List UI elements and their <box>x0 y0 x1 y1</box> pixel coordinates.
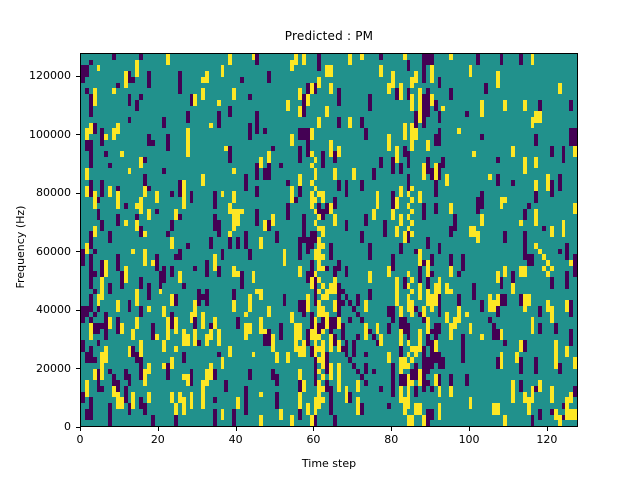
x-tick: 80 <box>361 427 421 449</box>
x-tick-mark <box>391 427 392 431</box>
y-tick-mark <box>76 76 80 77</box>
heatmap-image <box>81 54 577 426</box>
x-tick: 60 <box>283 427 343 449</box>
x-tick-label: 0 <box>50 433 110 446</box>
x-tick-label: 40 <box>206 433 266 446</box>
x-tick: 40 <box>206 427 266 449</box>
y-tick-label: 100000 <box>29 129 71 141</box>
x-tick: 0 <box>50 427 110 449</box>
y-tick-label: 60000 <box>36 246 71 258</box>
chart-title: Predicted : PM <box>80 29 578 43</box>
y-tick-mark <box>76 251 80 252</box>
y-tick: 20000 <box>0 363 80 375</box>
heatmap-axes <box>80 53 578 427</box>
x-tick-mark <box>236 427 237 431</box>
x-tick-mark <box>547 427 548 431</box>
x-axis-label: Time step <box>80 457 578 470</box>
x-tick-label: 80 <box>361 433 421 446</box>
x-tick-label: 120 <box>517 433 577 446</box>
y-tick-mark <box>76 310 80 311</box>
y-tick-label: 20000 <box>36 363 71 375</box>
x-tick-label: 20 <box>128 433 188 446</box>
y-tick: 40000 <box>0 304 80 316</box>
x-tick-mark <box>158 427 159 431</box>
x-tick: 100 <box>439 427 499 449</box>
y-tick-label: 120000 <box>29 70 71 82</box>
x-tick-label: 100 <box>439 433 499 446</box>
x-tick-mark <box>469 427 470 431</box>
y-tick: 100000 <box>0 129 80 141</box>
x-tick-mark <box>80 427 81 431</box>
y-tick: 60000 <box>0 246 80 258</box>
y-tick-mark <box>76 368 80 369</box>
x-tick-mark <box>313 427 314 431</box>
y-tick-label: 40000 <box>36 304 71 316</box>
y-tick-label: 80000 <box>36 187 71 199</box>
y-tick: 80000 <box>0 187 80 199</box>
x-tick: 20 <box>128 427 188 449</box>
matplotlib-figure: Predicted : PM Frequency (Hz) 0200004000… <box>0 0 640 480</box>
y-tick-mark <box>76 134 80 135</box>
y-tick-mark <box>76 193 80 194</box>
y-tick: 120000 <box>0 70 80 82</box>
x-tick: 120 <box>517 427 577 449</box>
x-tick-label: 60 <box>283 433 343 446</box>
